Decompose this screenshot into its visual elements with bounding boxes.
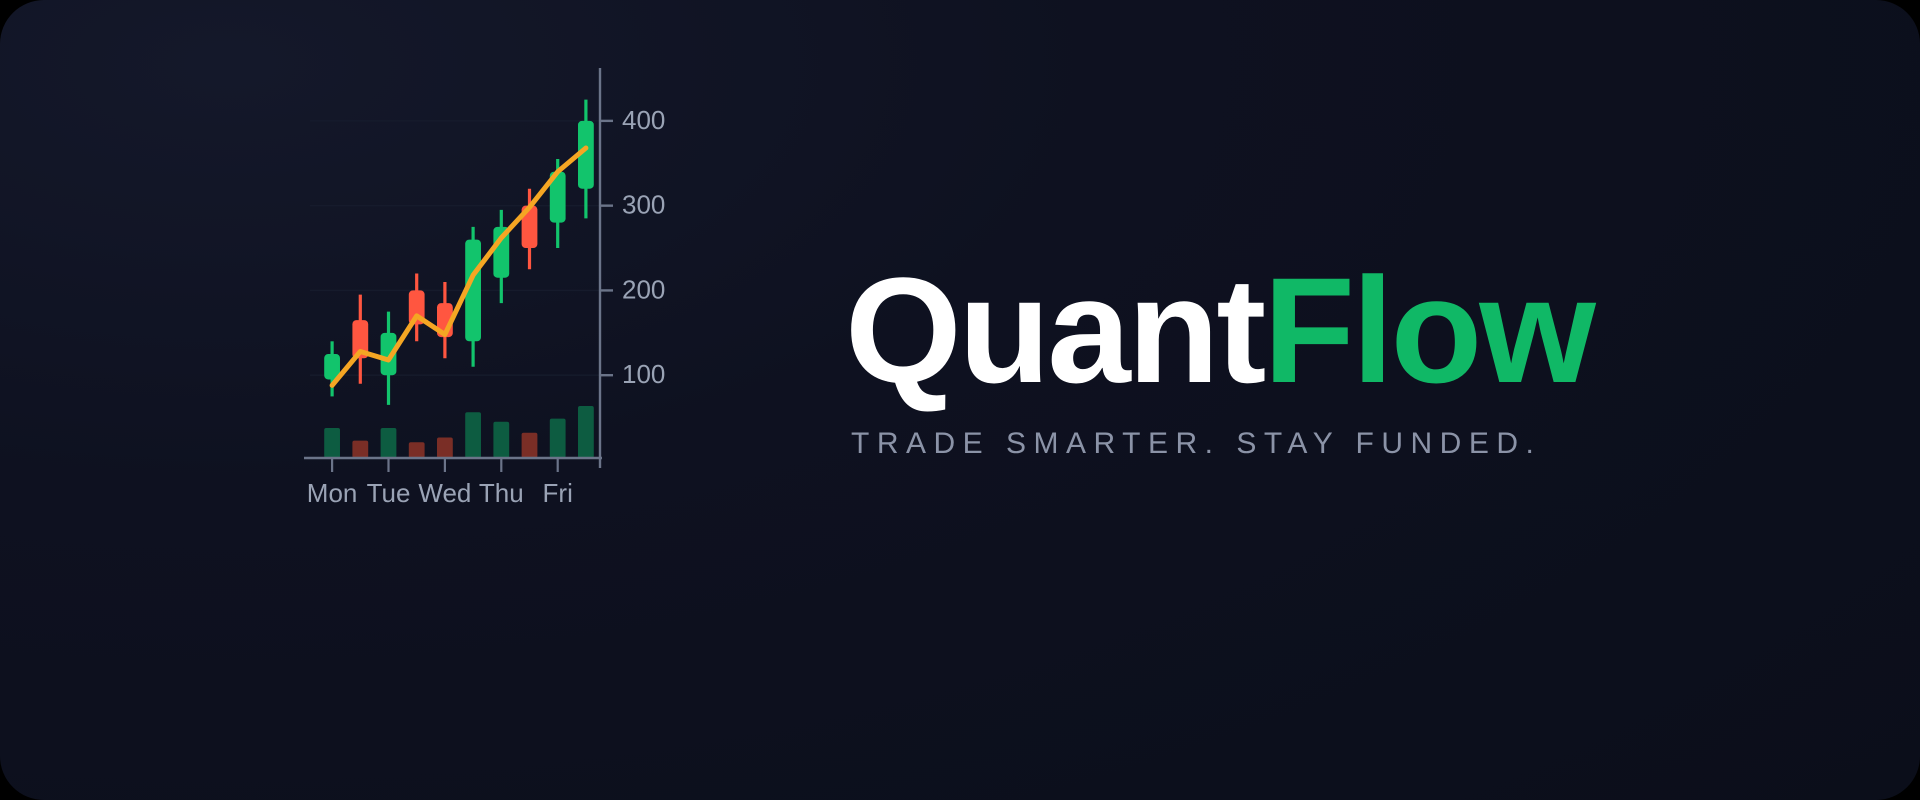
brand-title-primary: Quant	[845, 246, 1263, 414]
candlestick-chart: 100200300400 MonTueWedThuFri	[300, 60, 820, 580]
y-axis-tick-labels: 100200300400	[622, 105, 665, 389]
y-tick-label: 400	[622, 105, 665, 135]
brand-lockup: QuantFlow TRADE SMARTER. STAY FUNDED.	[845, 255, 1845, 461]
x-tick-label: Thu	[479, 478, 524, 508]
brand-title-accent: Flow	[1263, 246, 1593, 414]
x-tick-label: Fri	[543, 478, 573, 508]
chart-axes	[304, 68, 613, 472]
x-tick-label: Mon	[307, 478, 358, 508]
candles	[324, 100, 594, 405]
x-axis-tick-labels: MonTueWedThuFri	[307, 478, 573, 508]
chart-svg: 100200300400 MonTueWedThuFri	[300, 60, 820, 580]
moving-average-line	[332, 148, 586, 385]
page-title: QuantFlow	[845, 255, 1845, 405]
y-tick-label: 100	[622, 359, 665, 389]
x-tick-label: Tue	[367, 478, 411, 508]
brand-banner: 100200300400 MonTueWedThuFri QuantFlow T…	[0, 0, 1920, 800]
y-tick-label: 200	[622, 274, 665, 304]
volume-bars	[324, 406, 594, 458]
y-tick-label: 300	[622, 190, 665, 220]
x-tick-label: Wed	[418, 478, 471, 508]
brand-tagline: TRADE SMARTER. STAY FUNDED.	[851, 427, 1845, 461]
